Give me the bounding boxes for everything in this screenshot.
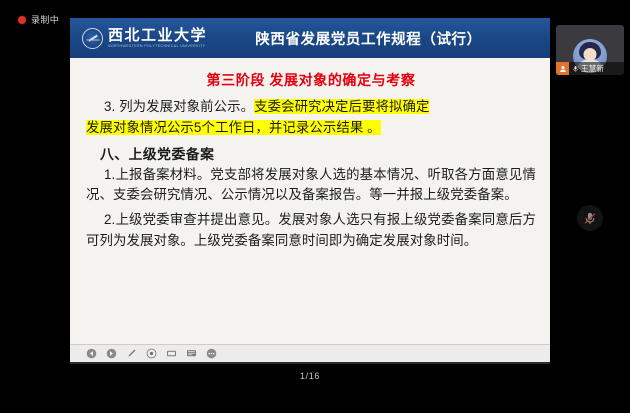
presentation-slide: 西北工业大学 NORTHWESTERN POLYTECHNICAL UNIVER… (70, 18, 550, 362)
university-logo: 西北工业大学 NORTHWESTERN POLYTECHNICAL UNIVER… (82, 28, 207, 49)
paragraph-three-plain: 3. 列为发展对象前公示。 (104, 99, 254, 114)
notes-icon[interactable] (186, 348, 197, 359)
shared-screen-region: 西北工业大学 NORTHWESTERN POLYTECHNICAL UNIVER… (70, 18, 550, 390)
slide-show-icon[interactable] (166, 348, 177, 359)
paragraph-three-line-two: 发展对象情况公示5个工作日，并记录公示结果 。 (86, 118, 536, 138)
laser-pointer-icon[interactable] (146, 348, 157, 359)
nwpu-emblem-icon (82, 28, 103, 49)
presentation-toolbar (70, 344, 550, 362)
more-options-icon[interactable] (206, 348, 217, 359)
paragraph-three-block: 3. 列为发展对象前公示。支委会研究决定后要将拟确定 发展对象情况公示5个工作日… (86, 97, 536, 138)
mic-muted-icon (583, 211, 597, 226)
section-eight-item-one: 1.上报备案材料。党支部将发展对象人选的基本情况、听取各方面意见情况、支委会研究… (86, 165, 536, 205)
paragraph-three-line-one: 3. 列为发展对象前公示。支委会研究决定后要将拟确定 (86, 97, 536, 117)
paragraph-three-highlight-two: 发展对象情况公示5个工作日，并记录公示结果 。 (86, 120, 381, 135)
zoom-meeting-window: 录制中 西北工业大学 NORTHWESTERN POLYTECHNICAL UN… (0, 0, 630, 413)
paragraph-three-highlight-one: 支委会研究决定后要将拟确定 (254, 99, 429, 114)
avatar-face (584, 48, 597, 61)
stage-title: 第三阶段 发展对象的确定与考察 (86, 70, 536, 90)
recording-indicator: 录制中 (18, 13, 59, 26)
mic-icon (572, 65, 579, 73)
participant-tile-footer: 王慧新 (556, 62, 624, 75)
previous-slide-icon[interactable] (86, 348, 97, 359)
slide-body: 第三阶段 发展对象的确定与考察 3. 列为发展对象前公示。支委会研究决定后要将拟… (70, 58, 550, 251)
logo-chinese-name: 西北工业大学 (108, 28, 207, 44)
slide-title: 陕西省发展党员工作规程（试行） (207, 28, 536, 49)
recording-label: 录制中 (31, 13, 59, 26)
progress-bar[interactable] (70, 362, 550, 364)
next-slide-icon[interactable] (106, 348, 117, 359)
page-indicator-strip: 1/16 (70, 362, 550, 390)
participants-sidebar: 王慧新 (550, 0, 630, 413)
slide-header-bar: 西北工业大学 NORTHWESTERN POLYTECHNICAL UNIVER… (70, 18, 550, 58)
section-eight-item-two: 2.上级党委审查并提出意见。发展对象人选只有报上级党委备案同意后方可列为发展对象… (86, 210, 536, 250)
logo-text-block: 西北工业大学 NORTHWESTERN POLYTECHNICAL UNIVER… (108, 28, 207, 49)
logo-english-name: NORTHWESTERN POLYTECHNICAL UNIVERSITY (108, 44, 207, 48)
recording-dot-icon (18, 16, 26, 24)
section-eight-heading: 八、上级党委备案 (86, 143, 536, 163)
page-number-label: 1/16 (300, 371, 320, 381)
participant-name-wrap: 王慧新 (569, 62, 624, 75)
mic-muted-indicator[interactable] (577, 205, 603, 231)
pen-icon[interactable] (126, 348, 137, 359)
participant-video-tile[interactable]: 王慧新 (556, 25, 624, 75)
participant-name: 王慧新 (581, 63, 604, 74)
host-badge (556, 62, 569, 75)
